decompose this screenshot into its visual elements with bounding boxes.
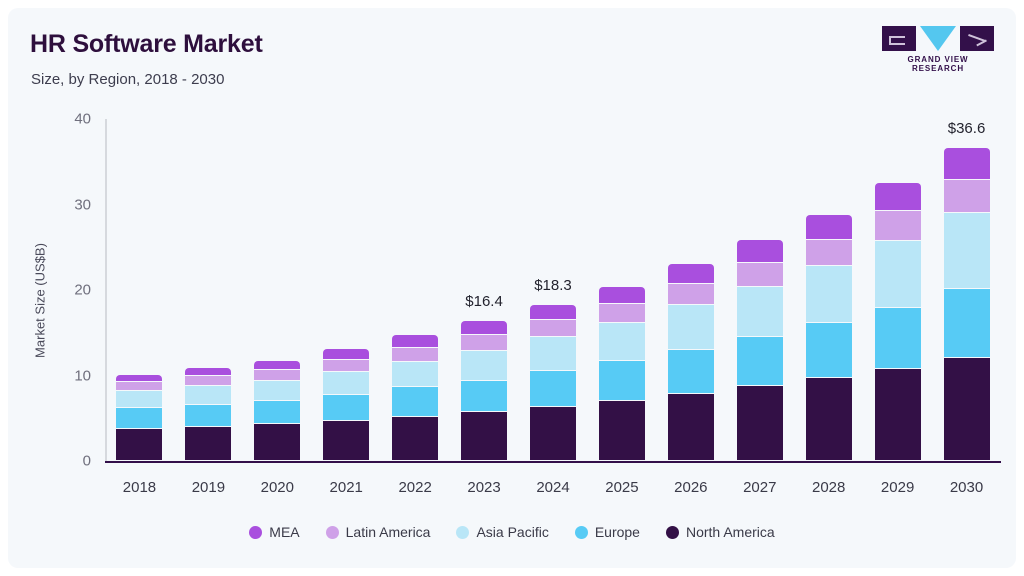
bar-segment-asia-pacific[interactable]: [599, 323, 645, 361]
bar-value-label: $18.3: [503, 277, 603, 294]
bar-segment-europe[interactable]: [944, 289, 990, 357]
bar-segment-latin-america[interactable]: [254, 370, 300, 380]
bar-segment-latin-america[interactable]: [875, 211, 921, 241]
bar-segment-north-america[interactable]: [737, 386, 783, 461]
bar-segment-mea[interactable]: [461, 321, 507, 336]
bar-segment-mea[interactable]: [944, 148, 990, 180]
bar-segment-north-america[interactable]: [668, 394, 714, 461]
legend-item-europe[interactable]: Europe: [575, 524, 640, 540]
bar-segment-latin-america[interactable]: [806, 240, 852, 267]
bar-segment-north-america[interactable]: [944, 358, 990, 461]
legend-swatch-icon: [575, 526, 588, 539]
bar-segment-asia-pacific[interactable]: [530, 337, 576, 371]
bar-segment-north-america[interactable]: [392, 417, 438, 461]
bar-stack[interactable]: [737, 240, 783, 461]
bar-segment-europe[interactable]: [392, 387, 438, 416]
y-axis-tick-label: 40: [51, 111, 91, 128]
bar-segment-north-america[interactable]: [599, 401, 645, 461]
chart-legend: MEALatin AmericaAsia PacificEuropeNorth …: [8, 524, 1016, 540]
bar-stack[interactable]: [806, 215, 852, 461]
legend-item-north-america[interactable]: North America: [666, 524, 775, 540]
bar-stack[interactable]: [875, 183, 921, 461]
bar-stack[interactable]: [530, 305, 576, 461]
bar-segment-asia-pacific[interactable]: [668, 305, 714, 349]
bar-segment-latin-america[interactable]: [461, 335, 507, 350]
bar-segment-mea[interactable]: [530, 305, 576, 320]
legend-item-label: Europe: [595, 524, 640, 540]
bar-segment-latin-america[interactable]: [185, 376, 231, 385]
bar-segment-mea[interactable]: [392, 335, 438, 348]
bar-stack[interactable]: [668, 264, 714, 461]
bar-segment-mea[interactable]: [599, 287, 645, 304]
bar-segment-mea[interactable]: [806, 215, 852, 240]
bar-segment-north-america[interactable]: [185, 427, 231, 461]
bar-segment-mea[interactable]: [254, 361, 300, 370]
bar-segment-mea[interactable]: [668, 264, 714, 284]
bar-segment-europe[interactable]: [254, 401, 300, 424]
legend-swatch-icon: [666, 526, 679, 539]
bar-segment-europe[interactable]: [116, 408, 162, 429]
bar-segment-north-america[interactable]: [875, 369, 921, 461]
legend-swatch-icon: [326, 526, 339, 539]
bar-stack[interactable]: [599, 287, 645, 461]
bar-segment-mea[interactable]: [323, 349, 369, 360]
bar-segment-asia-pacific[interactable]: [323, 372, 369, 395]
chart-plot-area: Market Size (US$B) 010203040201820192020…: [8, 8, 1016, 568]
bar-segment-north-america[interactable]: [323, 421, 369, 461]
bar-segment-north-america[interactable]: [116, 429, 162, 461]
bar-segment-asia-pacific[interactable]: [737, 287, 783, 337]
legend-item-mea[interactable]: MEA: [249, 524, 299, 540]
legend-item-latin-america[interactable]: Latin America: [326, 524, 431, 540]
bar-segment-latin-america[interactable]: [530, 320, 576, 337]
bar-segment-mea[interactable]: [116, 375, 162, 383]
bar-stack[interactable]: [461, 321, 507, 461]
bar-segment-latin-america[interactable]: [392, 348, 438, 362]
bar-segment-asia-pacific[interactable]: [116, 391, 162, 408]
bar-segment-latin-america[interactable]: [668, 284, 714, 305]
legend-swatch-icon: [456, 526, 469, 539]
bar-segment-europe[interactable]: [806, 323, 852, 378]
bar-segment-latin-america[interactable]: [323, 360, 369, 372]
bar-segment-asia-pacific[interactable]: [806, 266, 852, 323]
legend-item-label: Latin America: [346, 524, 431, 540]
legend-item-label: North America: [686, 524, 775, 540]
bar-segment-asia-pacific[interactable]: [185, 386, 231, 405]
bar-stack[interactable]: [944, 148, 990, 461]
bar-segment-europe[interactable]: [530, 371, 576, 407]
bar-segment-mea[interactable]: [875, 183, 921, 211]
bar-segment-asia-pacific[interactable]: [392, 362, 438, 388]
bar-segment-north-america[interactable]: [254, 424, 300, 461]
legend-swatch-icon: [249, 526, 262, 539]
bar-value-label: $36.6: [917, 120, 1016, 137]
bar-segment-latin-america[interactable]: [599, 304, 645, 323]
x-axis-tick-label: 2030: [927, 479, 1007, 496]
bar-segment-latin-america[interactable]: [944, 180, 990, 213]
legend-item-asia-pacific[interactable]: Asia Pacific: [456, 524, 548, 540]
chart-screenshot: HR Software Market Size, by Region, 2018…: [0, 0, 1024, 576]
bar-segment-mea[interactable]: [737, 240, 783, 262]
bar-segment-north-america[interactable]: [806, 378, 852, 461]
bar-segment-north-america[interactable]: [530, 407, 576, 461]
legend-item-label: Asia Pacific: [476, 524, 548, 540]
bar-stack[interactable]: [392, 335, 438, 461]
y-axis-line: [105, 119, 107, 461]
bar-stack[interactable]: [185, 368, 231, 461]
bar-stack[interactable]: [254, 361, 300, 461]
bar-segment-asia-pacific[interactable]: [254, 381, 300, 402]
bar-segment-asia-pacific[interactable]: [875, 241, 921, 308]
bar-segment-europe[interactable]: [737, 337, 783, 386]
chart-card: HR Software Market Size, by Region, 2018…: [8, 8, 1016, 568]
y-axis-title: Market Size (US$B): [33, 151, 48, 451]
legend-item-label: MEA: [269, 524, 299, 540]
y-axis-tick-label: 10: [51, 367, 91, 384]
bar-segment-asia-pacific[interactable]: [461, 351, 507, 381]
bar-stack[interactable]: [323, 349, 369, 461]
bar-segment-europe[interactable]: [668, 350, 714, 394]
bar-value-label: $16.4: [434, 293, 534, 310]
bar-segment-north-america[interactable]: [461, 412, 507, 461]
bar-segment-europe[interactable]: [461, 381, 507, 413]
bar-segment-europe[interactable]: [599, 361, 645, 401]
bar-segment-latin-america[interactable]: [116, 382, 162, 391]
bar-segment-mea[interactable]: [185, 368, 231, 377]
y-axis-tick-label: 0: [51, 453, 91, 470]
bar-stack[interactable]: [116, 375, 162, 461]
bar-segment-europe[interactable]: [323, 395, 369, 421]
bar-segment-europe[interactable]: [185, 405, 231, 427]
x-axis-line: [105, 461, 1001, 463]
bar-segment-asia-pacific[interactable]: [944, 213, 990, 289]
bar-segment-europe[interactable]: [875, 308, 921, 369]
y-axis-tick-label: 20: [51, 282, 91, 299]
bar-segment-latin-america[interactable]: [737, 263, 783, 287]
y-axis-tick-label: 30: [51, 196, 91, 213]
